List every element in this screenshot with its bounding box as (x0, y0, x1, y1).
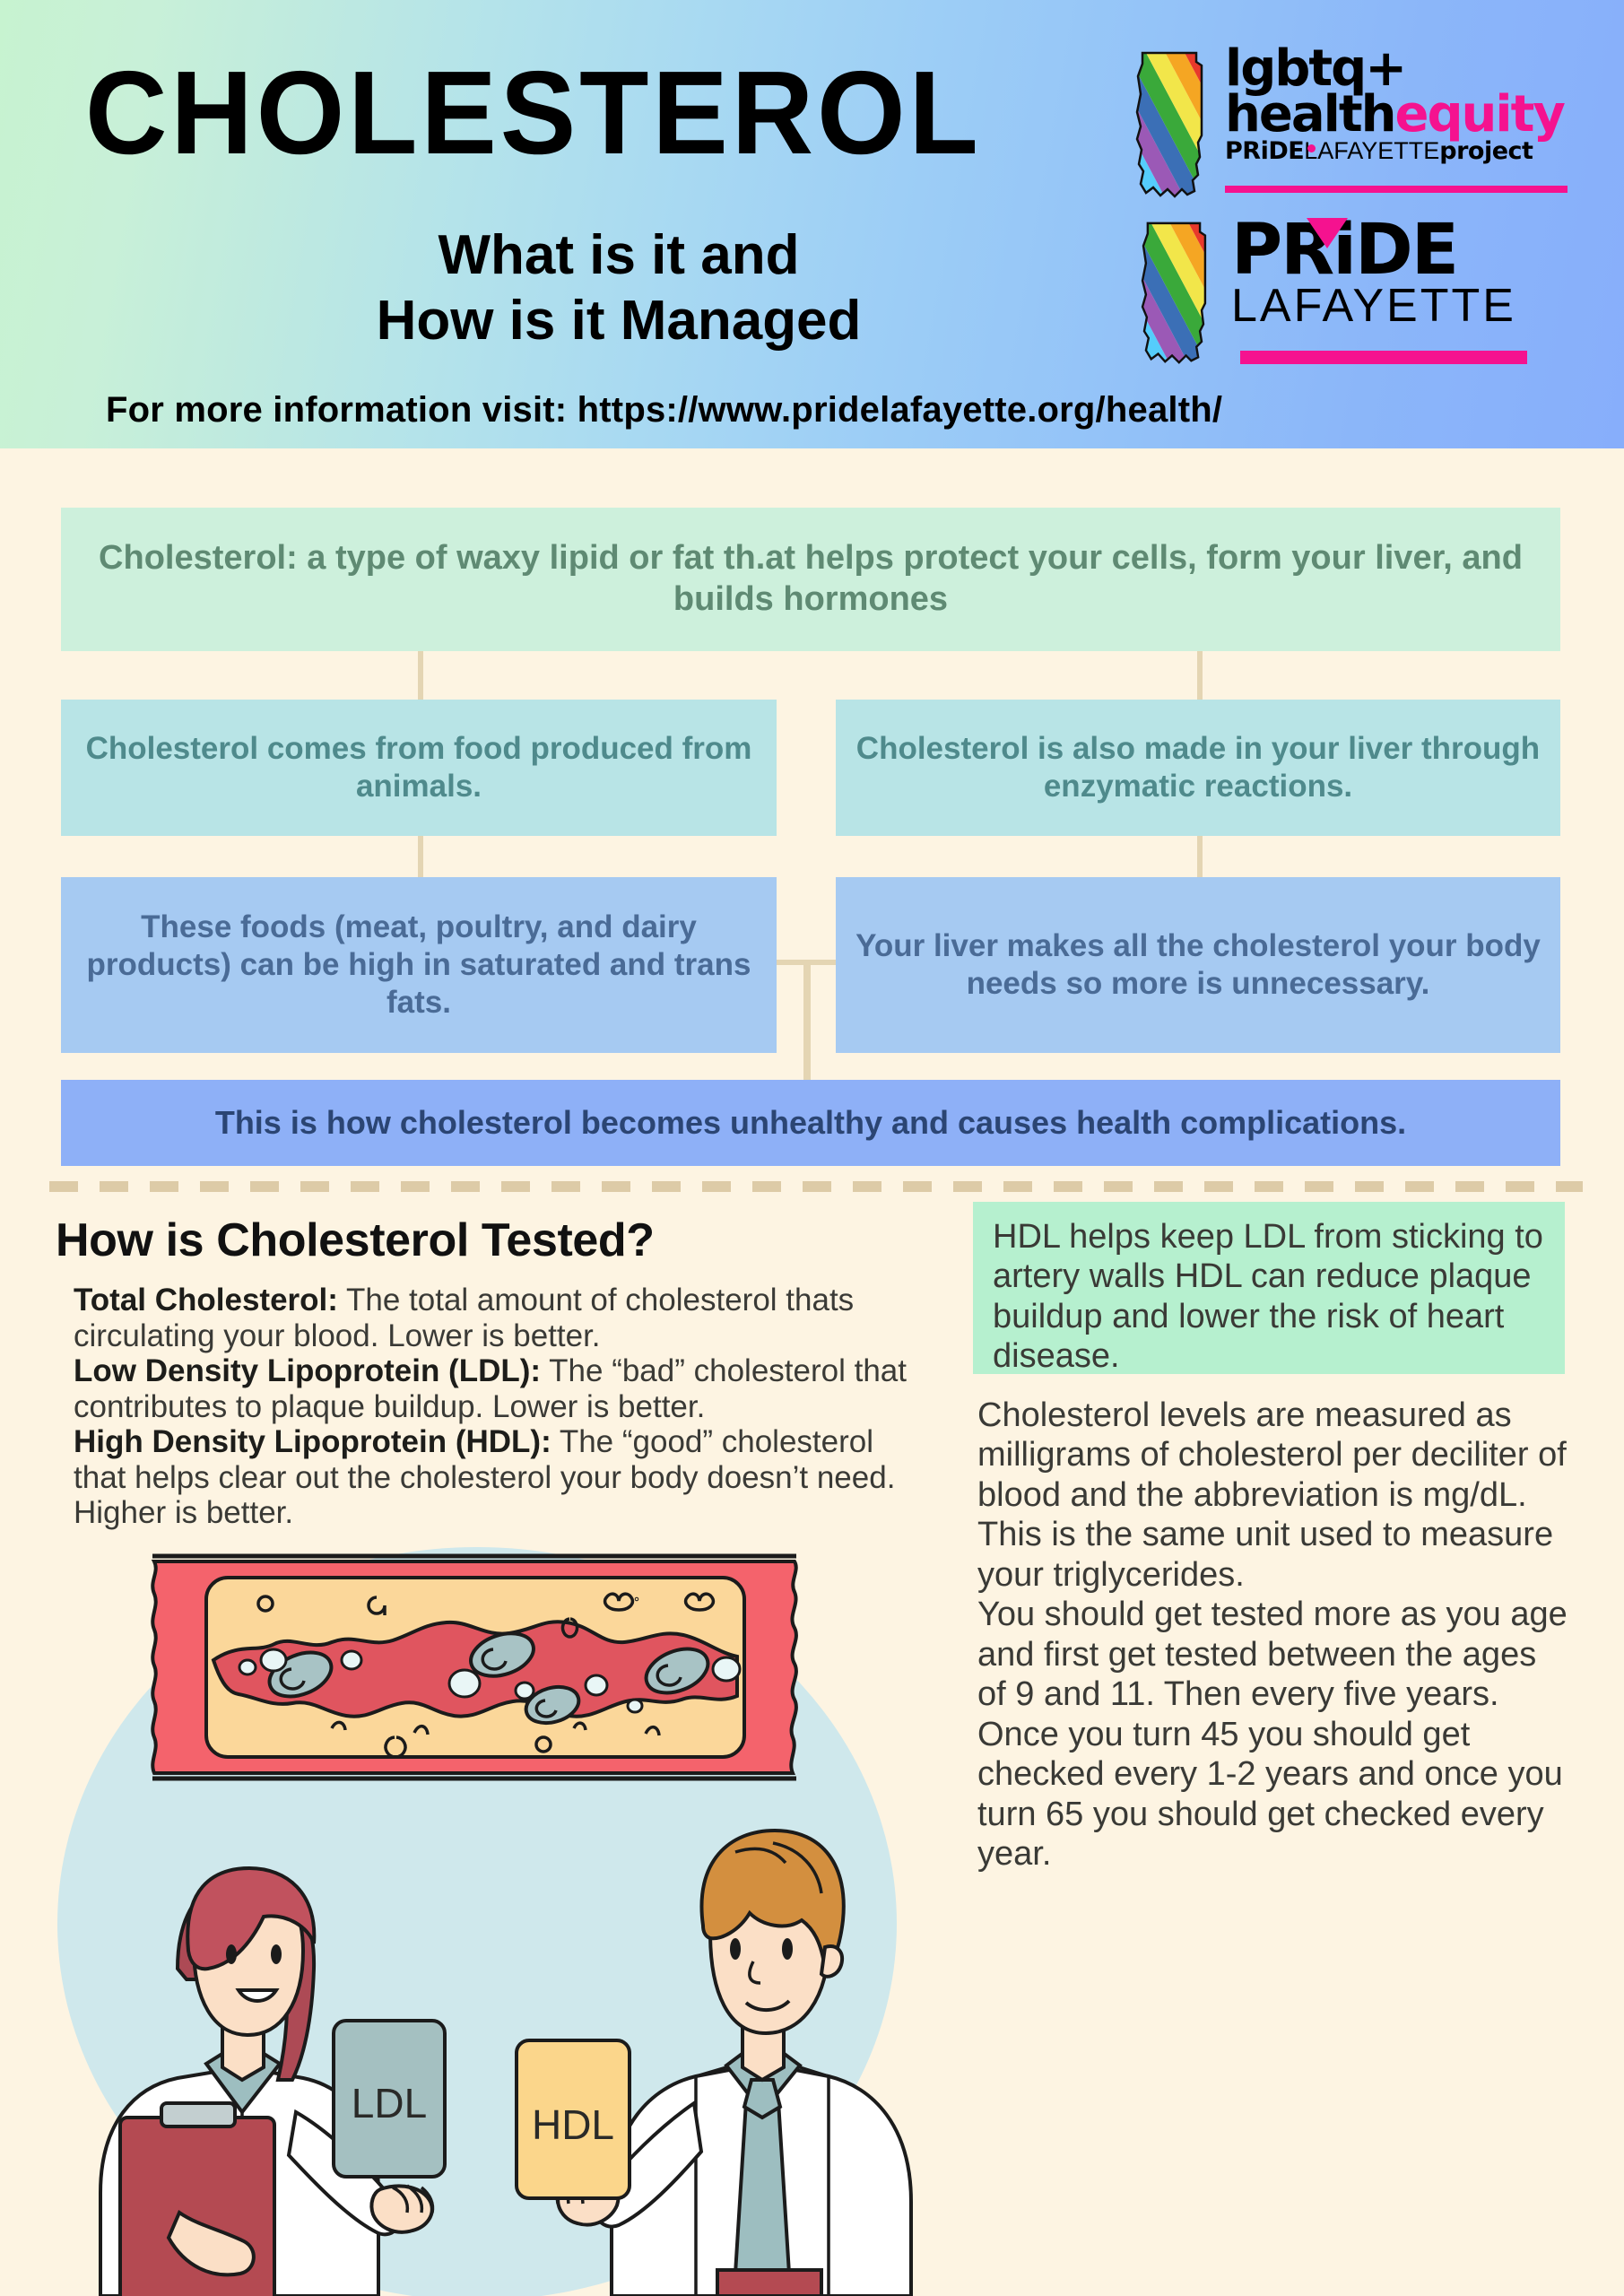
page-subtitle: What is it and How is it Managed (251, 222, 986, 353)
pride-i-dot-icon (1307, 144, 1316, 152)
subtitle-line-2: How is it Managed (251, 288, 986, 353)
connector-top-left (418, 651, 423, 700)
left-eye (226, 1944, 237, 1964)
logo-word-equity: equity (1394, 85, 1563, 143)
illustration-svg: LDL (18, 1484, 942, 2296)
pride-lafayette-wordmark: PRiDE LAFAYETTE (1231, 222, 1516, 328)
more-info-link[interactable]: For more information visit: https://www.… (106, 390, 1222, 430)
ldl-card: LDL (334, 2021, 445, 2177)
logo-line-healthequity: healthequity (1225, 93, 1564, 135)
logo-underline-bar (1240, 351, 1527, 364)
definition-term: Low Density Lipoprotein (LDL): (74, 1353, 541, 1388)
definition-total-cholesterol: Total Cholesterol: The total amount of c… (74, 1283, 934, 1353)
content-area: Cholesterol: a type of waxy lipid or fat… (0, 448, 1624, 2296)
logo-word-lafayette: LAFAYETTE (1231, 284, 1516, 328)
right-eye (782, 1938, 793, 1960)
coat-hem (717, 2270, 821, 2296)
flowchart-box-conclusion: This is how cholesterol becomes unhealth… (61, 1080, 1560, 1166)
health-equity-wordmark: lgbtq+ healthequity PRiDELAFAYETTEprojec… (1225, 48, 1564, 165)
subtitle-line-1: What is it and (251, 222, 986, 288)
logo-word-health: health (1225, 85, 1394, 143)
logo-line-lgbtq: lgbtq+ (1225, 48, 1564, 90)
clipboard-clip (161, 2103, 235, 2126)
lgbtq-health-equity-project-logo: lgbtq+ healthequity PRiDELAFAYETTEprojec… (1119, 49, 1568, 202)
logo-underline-bar (1225, 186, 1568, 193)
right-column-text: Cholesterol levels are measured as milli… (977, 1396, 1569, 1874)
connector-mid-left (418, 836, 423, 877)
paragraph-measurement-units: Cholesterol levels are measured as milli… (977, 1396, 1569, 1595)
page-title: CHOLESTEROL (85, 54, 982, 172)
logo-word-project: project (1439, 137, 1533, 165)
definition-term: High Density Lipoprotein (HDL): (74, 1424, 551, 1459)
flowchart-box-saturated-fats: These foods (meat, poultry, and dairy pr… (61, 877, 777, 1053)
tie-knot (744, 2080, 780, 2118)
ear (821, 1946, 842, 1977)
pride-lafayette-logo: PRiDE LAFAYETTE (1119, 220, 1532, 368)
right-eye (271, 1944, 282, 1964)
logo-word-lafayette: LAFAYETTE (1304, 137, 1439, 164)
flowchart-box-from-food: Cholesterol comes from food produced fro… (61, 700, 777, 836)
hdl-card: HDL (517, 2040, 630, 2198)
connector-join-vertical (803, 960, 811, 1080)
connector-mid-right (1197, 836, 1203, 877)
pride-triangle-icon (1307, 218, 1348, 248)
artery-cross-section (152, 1556, 796, 1779)
doctors-cholesterol-illustration: LDL (18, 1484, 942, 2296)
definition-term: Total Cholesterol: (74, 1283, 338, 1318)
logo-word-pride: PRiDE (1225, 137, 1304, 165)
indiana-pride-flag-icon (1119, 220, 1227, 368)
paragraph-testing-schedule: You should get tested more as you age an… (977, 1595, 1569, 1874)
flowchart-box-made-in-liver: Cholesterol is also made in your liver t… (836, 700, 1560, 836)
clipboard (120, 2118, 274, 2296)
connector-top-right (1197, 651, 1203, 700)
section-heading-how-tested: How is Cholesterol Tested? (56, 1213, 655, 1267)
section-divider (49, 1181, 1583, 1192)
hdl-callout-box: HDL helps keep LDL from sticking to arte… (973, 1202, 1565, 1374)
logo-line-pridelafayette-project: PRiDELAFAYETTEproject (1225, 137, 1564, 165)
header-banner: CHOLESTEROL What is it and How is it Man… (0, 0, 1624, 448)
cholesterol-flowchart: Cholesterol: a type of waxy lipid or fat… (0, 448, 1624, 1202)
definition-ldl: Low Density Lipoprotein (LDL): The “bad”… (74, 1353, 934, 1424)
indiana-pride-flag-icon (1119, 49, 1218, 202)
tie (735, 2101, 789, 2296)
left-eye (730, 1938, 741, 1960)
logo-word-pride: PRiDE (1231, 222, 1516, 281)
ldl-card-label: LDL (352, 2080, 427, 2126)
hdl-card-label: HDL (532, 2101, 614, 2148)
flowchart-box-liver-enough: Your liver makes all the cholesterol you… (836, 877, 1560, 1053)
flowchart-box-definition: Cholesterol: a type of waxy lipid or fat… (61, 508, 1560, 651)
